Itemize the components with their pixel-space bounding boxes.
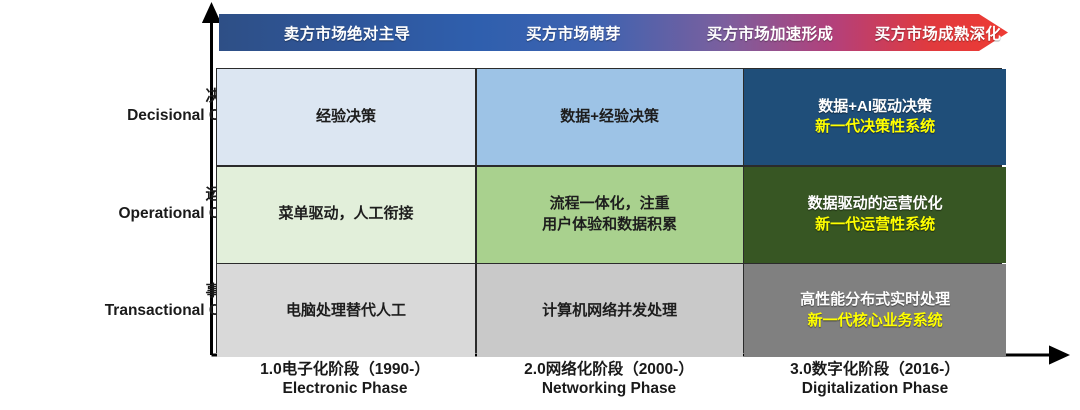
matrix-cell-transactional-electronic: 电脑处理替代人工 xyxy=(217,264,475,357)
cell-main-text: 数据+经验决策 xyxy=(560,107,659,127)
matrix-cell-transactional-networking: 计算机网络并发处理 xyxy=(477,264,743,357)
cell-main-text: 数据+AI驱动决策 xyxy=(818,97,932,117)
capability-phase-matrix: 经验决策 数据+经验决策 数据+AI驱动决策 新一代决策性系统 菜单驱动，人工衔… xyxy=(216,68,1002,353)
matrix-cell-transactional-digitalization: 高性能分布式实时处理 新一代核心业务系统 xyxy=(744,264,1006,357)
cell-accent-text: 新一代运营性系统 xyxy=(815,215,935,235)
banner-segment-2: 买方市场萌芽 xyxy=(475,14,672,51)
banner-segment-1: 卖方市场绝对主导 xyxy=(219,14,475,51)
phase-label-digitalization: 3.0数字化阶段（2016-） Digitalization Phase xyxy=(744,360,1006,399)
banner-label-row: 卖方市场绝对主导 买方市场萌芽 买方市场加速形成 买方市场成熟深化 xyxy=(219,14,1008,51)
cell-main-text: 数据驱动的运营优化 xyxy=(808,194,943,214)
cell-main-text: 流程一体化，注重用户体验和数据积累 xyxy=(542,194,677,235)
phase-label-digitalization-cn: 3.0数字化阶段（2016-） xyxy=(744,360,1006,379)
market-evolution-banner: 卖方市场绝对主导 买方市场萌芽 买方市场加速形成 买方市场成熟深化 xyxy=(219,14,1008,51)
phase-label-networking: 2.0网络化阶段（2000-） Networking Phase xyxy=(476,360,742,399)
cell-main-text: 经验决策 xyxy=(316,107,376,127)
matrix-cell-decisional-networking: 数据+经验决策 xyxy=(477,69,743,165)
matrix-cell-operational-electronic: 菜单驱动，人工衔接 xyxy=(217,167,475,263)
cell-main-text: 高性能分布式实时处理 xyxy=(800,290,950,310)
cell-accent-text: 新一代核心业务系统 xyxy=(808,311,943,331)
cell-main-text: 菜单驱动，人工衔接 xyxy=(278,204,413,224)
matrix-cell-decisional-electronic: 经验决策 xyxy=(217,69,475,165)
diagram-canvas: 卖方市场绝对主导 买方市场萌芽 买方市场加速形成 买方市场成熟深化 决策性能力 … xyxy=(0,0,1080,410)
phase-label-networking-en: Networking Phase xyxy=(476,379,742,398)
matrix-cell-operational-networking: 流程一体化，注重用户体验和数据积累 xyxy=(477,167,743,263)
cell-main-text: 计算机网络并发处理 xyxy=(542,301,677,321)
phase-label-electronic-cn: 1.0电子化阶段（1990-） xyxy=(216,360,474,379)
banner-segment-4: 买方市场成熟深化 xyxy=(868,14,1008,51)
banner-segment-3: 买方市场加速形成 xyxy=(672,14,868,51)
cell-main-text: 电脑处理替代人工 xyxy=(286,301,406,321)
cell-accent-text: 新一代决策性系统 xyxy=(815,117,935,137)
matrix-cell-operational-digitalization: 数据驱动的运营优化 新一代运营性系统 xyxy=(744,167,1006,263)
matrix-cell-decisional-digitalization: 数据+AI驱动决策 新一代决策性系统 xyxy=(744,69,1006,165)
phase-label-electronic: 1.0电子化阶段（1990-） Electronic Phase xyxy=(216,360,474,399)
phase-label-electronic-en: Electronic Phase xyxy=(216,379,474,398)
phase-label-digitalization-en: Digitalization Phase xyxy=(744,379,1006,398)
phase-label-networking-cn: 2.0网络化阶段（2000-） xyxy=(476,360,742,379)
